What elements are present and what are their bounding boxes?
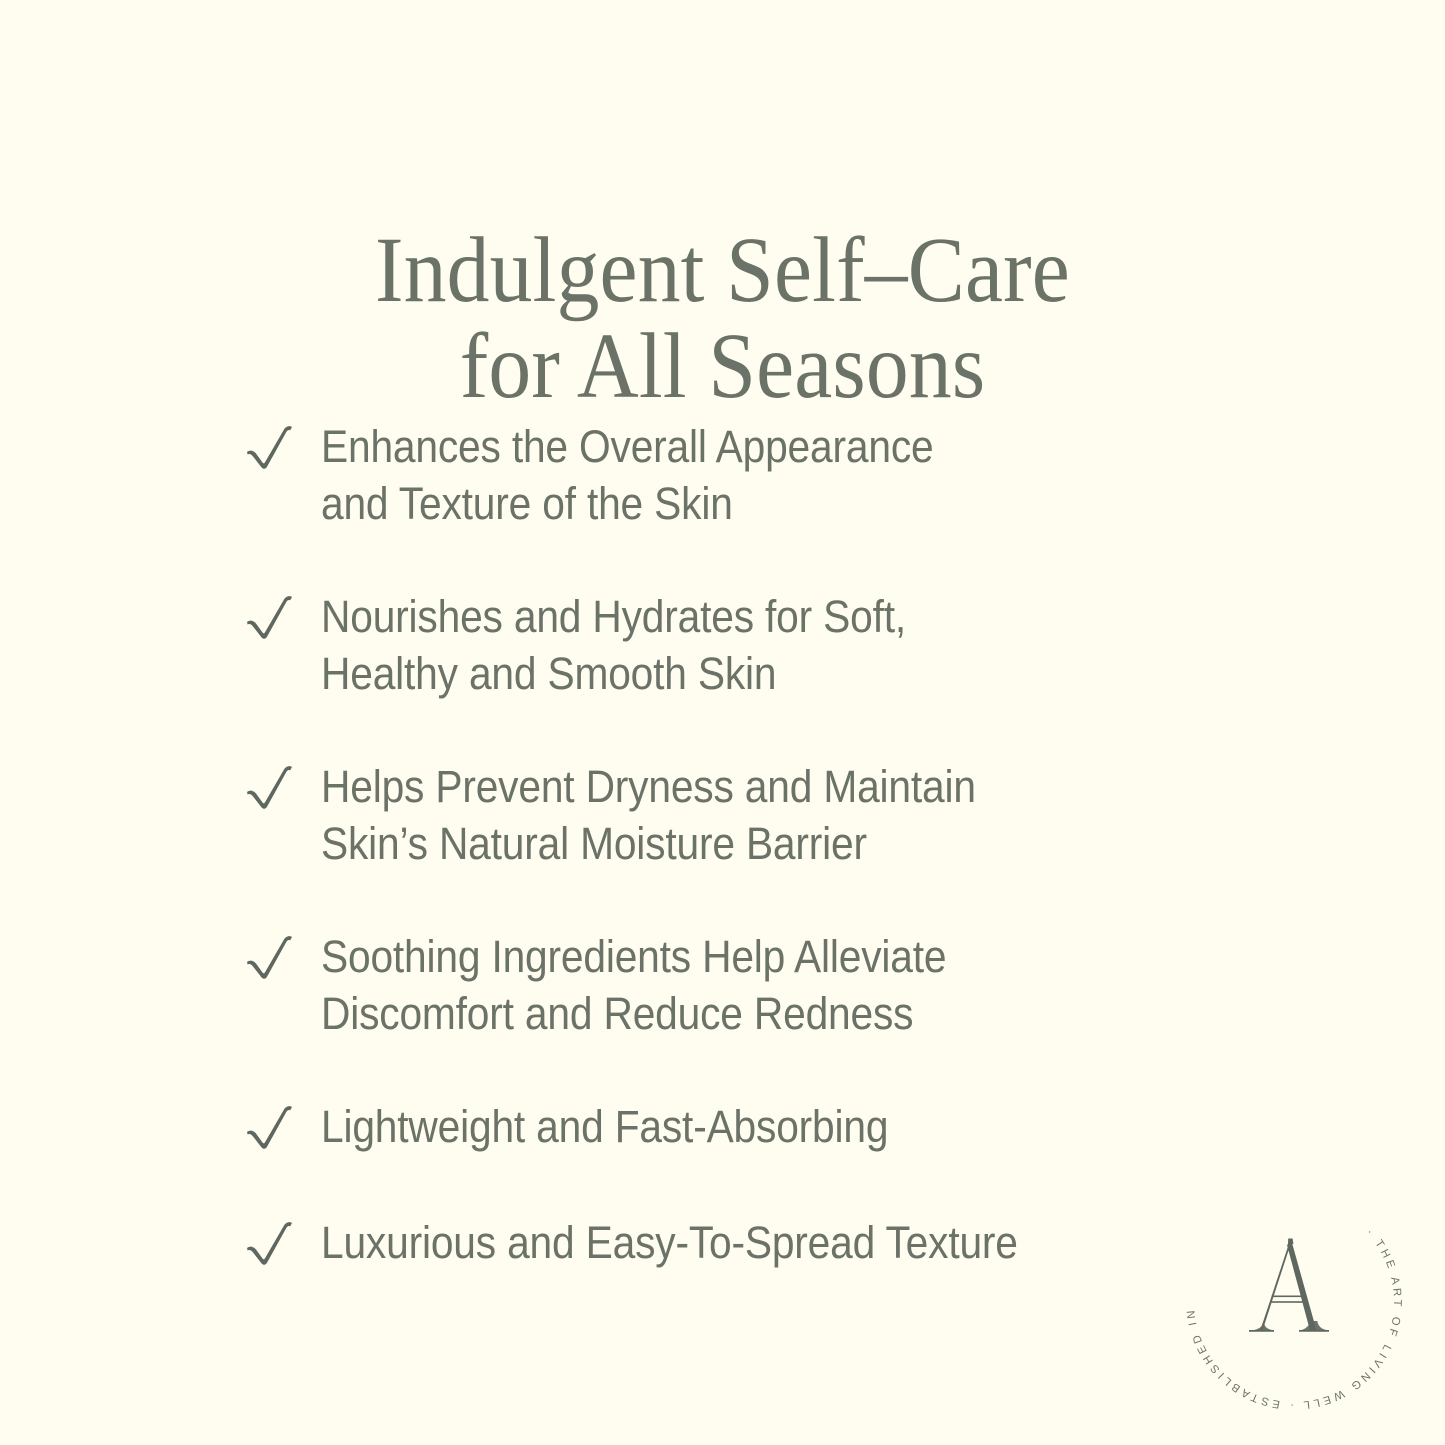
benefit-label: Luxurious and Easy-To-Spread Texture — [321, 1214, 1101, 1271]
list-item: Soothing Ingredients Help Alleviate Disc… — [243, 928, 1183, 1042]
badge-ring-textpath: · THE ART OF LIVING WELL · ESTABLISHED I… — [1170, 1178, 1403, 1411]
checkmark-icon — [243, 1218, 295, 1274]
checkmark-icon — [243, 1102, 295, 1158]
benefits-list: Enhances the Overall Appearance and Text… — [243, 418, 1183, 1274]
checkmark-icon — [243, 762, 295, 818]
checkmark-icon — [243, 592, 295, 648]
benefit-label: Nourishes and Hydrates for Soft, Healthy… — [321, 588, 1101, 702]
benefit-label: Enhances the Overall Appearance and Text… — [321, 418, 1101, 532]
checkmark-icon — [243, 932, 295, 988]
benefit-label: Soothing Ingredients Help Alleviate Disc… — [321, 928, 1101, 1042]
benefit-label: Helps Prevent Dryness and Maintain Skin’… — [321, 758, 1101, 872]
list-item: Nourishes and Hydrates for Soft, Healthy… — [243, 588, 1183, 702]
benefit-label: Lightweight and Fast-Absorbing — [321, 1098, 1101, 1155]
list-item: Enhances the Overall Appearance and Text… — [243, 418, 1183, 532]
page-title: Indulgent Self–Care for All Seasons — [0, 224, 1445, 413]
list-item: Luxurious and Easy-To-Spread Texture — [243, 1214, 1183, 1274]
checkmark-icon — [243, 422, 295, 478]
badge-ring-text: · THE ART OF LIVING WELL · ESTABLISHED I… — [1170, 1178, 1403, 1411]
list-item: Lightweight and Fast-Absorbing — [243, 1098, 1183, 1158]
list-item: Helps Prevent Dryness and Maintain Skin’… — [243, 758, 1183, 872]
poster-canvas: Indulgent Self–Care for All Seasons Enha… — [0, 0, 1445, 1445]
brand-badge: · THE ART OF LIVING WELL · ESTABLISHED I… — [1170, 1178, 1418, 1426]
badge-monogram — [1249, 1239, 1329, 1332]
page-title-line-1: Indulgent Self–Care — [58, 224, 1387, 317]
page-title-line-2: for All Seasons — [58, 320, 1387, 413]
